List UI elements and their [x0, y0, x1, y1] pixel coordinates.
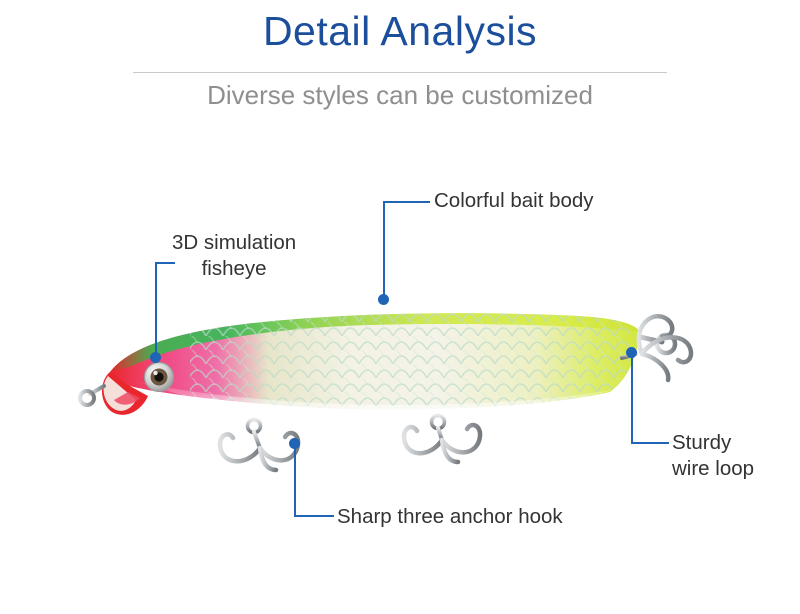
callout-colorful-bait-body: Colorful bait body — [434, 188, 594, 214]
marker-bait-body — [378, 294, 389, 305]
marker-wire-loop — [626, 347, 637, 358]
marker-fisheye — [150, 352, 161, 363]
marker-hook — [289, 438, 300, 449]
callout-sharp-three-anchor-hook: Sharp three anchor hook — [337, 504, 563, 530]
callout-sturdy-wire-loop: Sturdy wire loop — [672, 430, 754, 482]
leader-bait-body-vertical — [383, 201, 385, 299]
leader-bait-body-horizontal — [383, 201, 430, 203]
fishing-lure-image — [70, 280, 750, 480]
leader-fisheye-vertical — [155, 262, 157, 357]
treble-hook-front — [220, 406, 298, 470]
page-title: Detail Analysis — [0, 8, 800, 55]
treble-hook-middle — [404, 404, 480, 462]
fisheye — [145, 363, 174, 392]
leader-hook-horizontal — [294, 515, 334, 517]
callout-3d-simulation-fisheye: 3D simulation fisheye — [172, 230, 296, 282]
page-subtitle: Diverse styles can be customized — [0, 80, 800, 111]
detail-analysis-page: Detail Analysis Diverse styles can be cu… — [0, 0, 800, 614]
leader-wire-loop-horizontal — [631, 442, 669, 444]
header-divider — [133, 72, 667, 73]
leader-wire-loop-vertical — [631, 352, 633, 444]
leader-hook-vertical — [294, 443, 296, 517]
